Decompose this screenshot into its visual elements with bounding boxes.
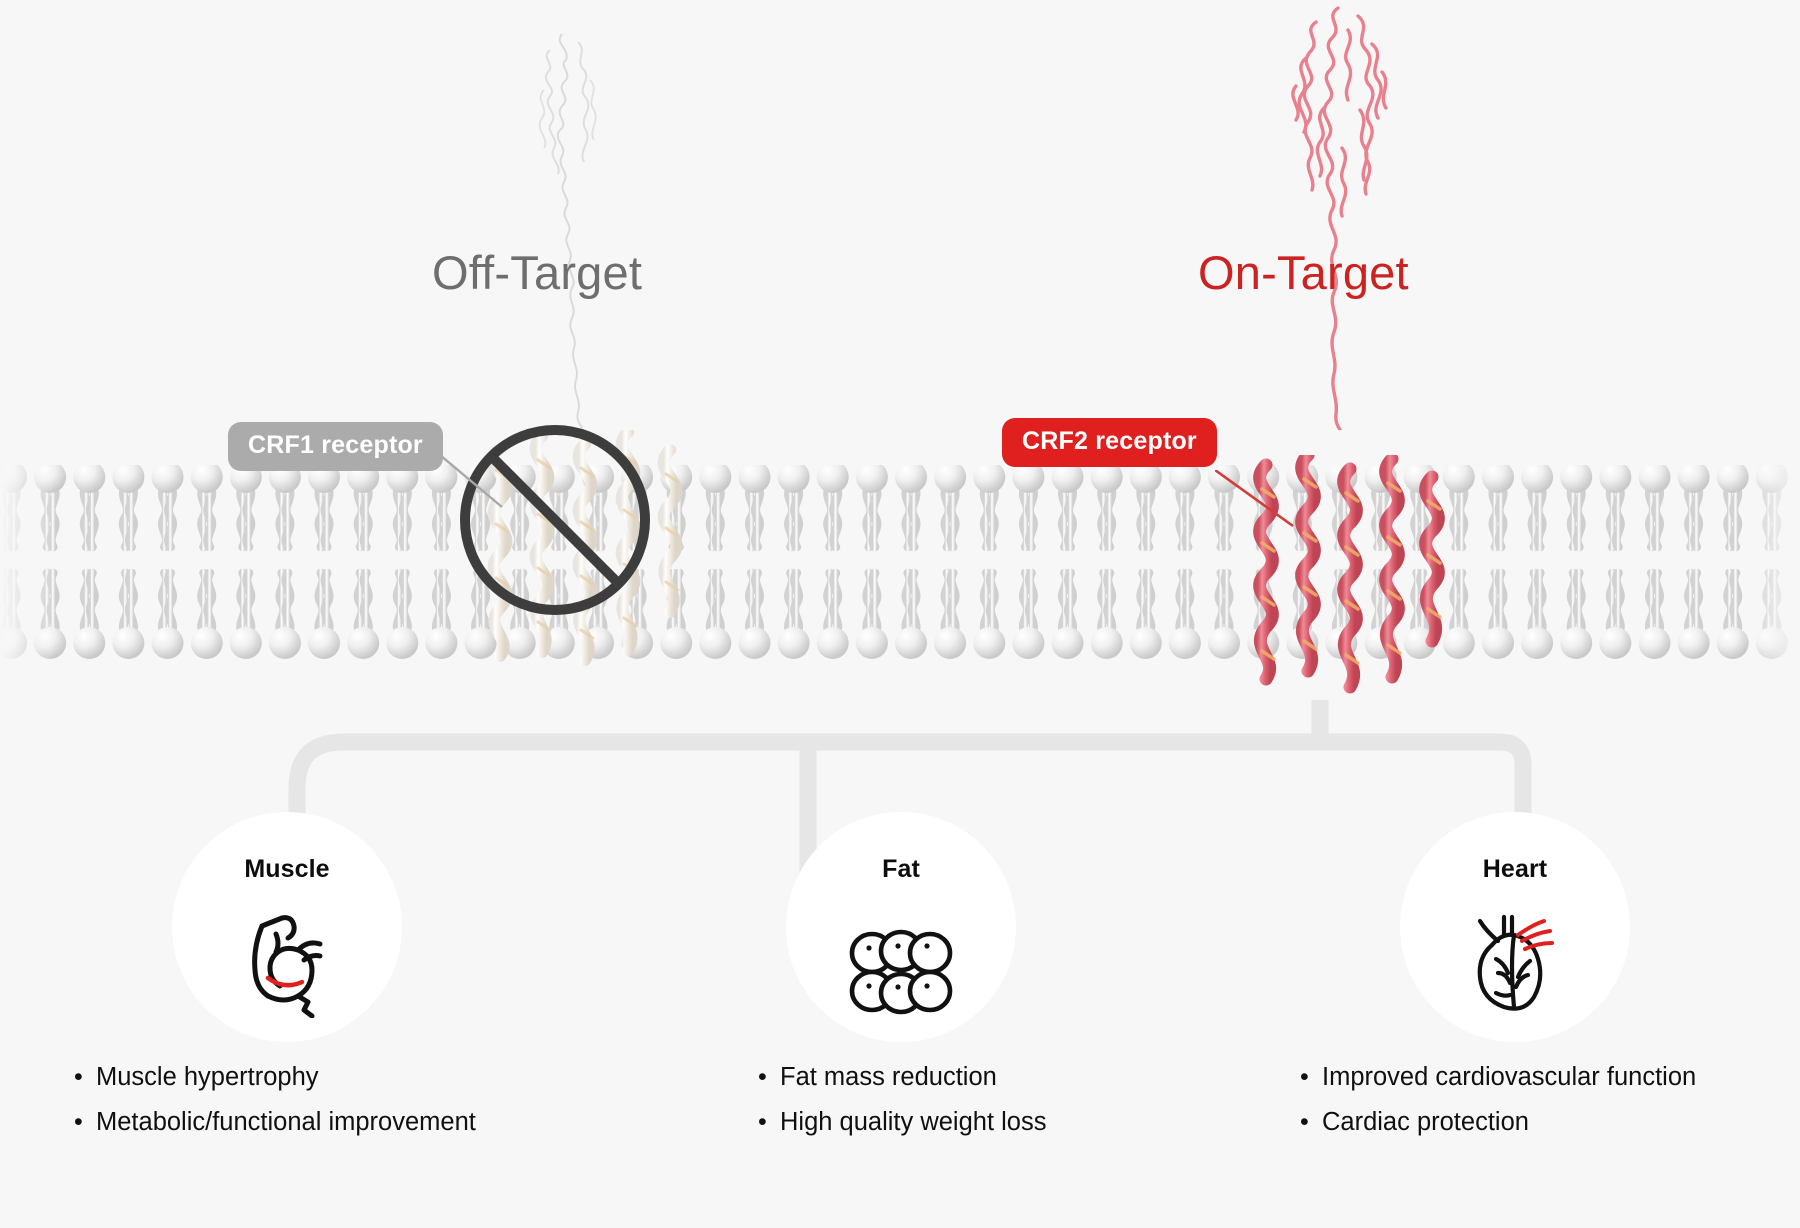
list-item-label: Metabolic/functional improvement [96, 1110, 476, 1136]
adipocyte-cells-icon [846, 915, 956, 1025]
bullet-list-heart: • Improved cardiovascular function • Car… [1300, 1065, 1696, 1154]
bullet-list-muscle: • Muscle hypertrophy • Metabolic/functio… [74, 1065, 476, 1154]
status-badge-crf1: CRF1 receptor [228, 422, 443, 471]
anatomical-heart-icon [1462, 905, 1572, 1015]
list-item-label: Muscle hypertrophy [96, 1065, 319, 1091]
list-item: • Improved cardiovascular function [1300, 1065, 1696, 1091]
list-item: • Metabolic/functional improvement [74, 1110, 476, 1136]
list-item: • Cardiac protection [1300, 1110, 1696, 1136]
crf2-pointer-line [1215, 470, 1310, 535]
flexed-bicep-icon [232, 908, 342, 1018]
outcome-label-muscle: Muscle [172, 855, 402, 884]
page-title-on-target: On-Target [1198, 245, 1409, 300]
list-item: • Muscle hypertrophy [74, 1065, 476, 1091]
peptide-ligand-icon-on [1260, 0, 1420, 430]
phospholipid-bilayer-icon [0, 465, 1800, 660]
diagram-canvas: Off-Target On-Target CRF1 receptor CRF2 … [0, 0, 1800, 1228]
list-item-label: Improved cardiovascular function [1322, 1065, 1696, 1091]
prohibition-icon [455, 420, 655, 620]
list-item-label: High quality weight loss [780, 1110, 1046, 1136]
page-title-off-target: Off-Target [432, 245, 642, 300]
list-item: • High quality weight loss [758, 1110, 1046, 1136]
outcome-label-heart: Heart [1400, 855, 1630, 884]
bullet-marker: • [1300, 1110, 1322, 1135]
outcome-label-fat: Fat [786, 855, 1016, 884]
bullet-marker: • [758, 1110, 780, 1135]
peptide-ligand-icon [500, 30, 630, 430]
crf1-pointer-line [440, 455, 520, 515]
status-badge-crf2: CRF2 receptor [1002, 418, 1217, 467]
list-item: • Fat mass reduction [758, 1065, 1046, 1091]
bullet-list-fat: • Fat mass reduction • High quality weig… [758, 1065, 1046, 1154]
bullet-marker: • [1300, 1065, 1322, 1090]
list-item-label: Cardiac protection [1322, 1110, 1529, 1136]
bullet-marker: • [74, 1110, 96, 1135]
list-item-label: Fat mass reduction [780, 1065, 997, 1091]
bullet-marker: • [758, 1065, 780, 1090]
bullet-marker: • [74, 1065, 96, 1090]
